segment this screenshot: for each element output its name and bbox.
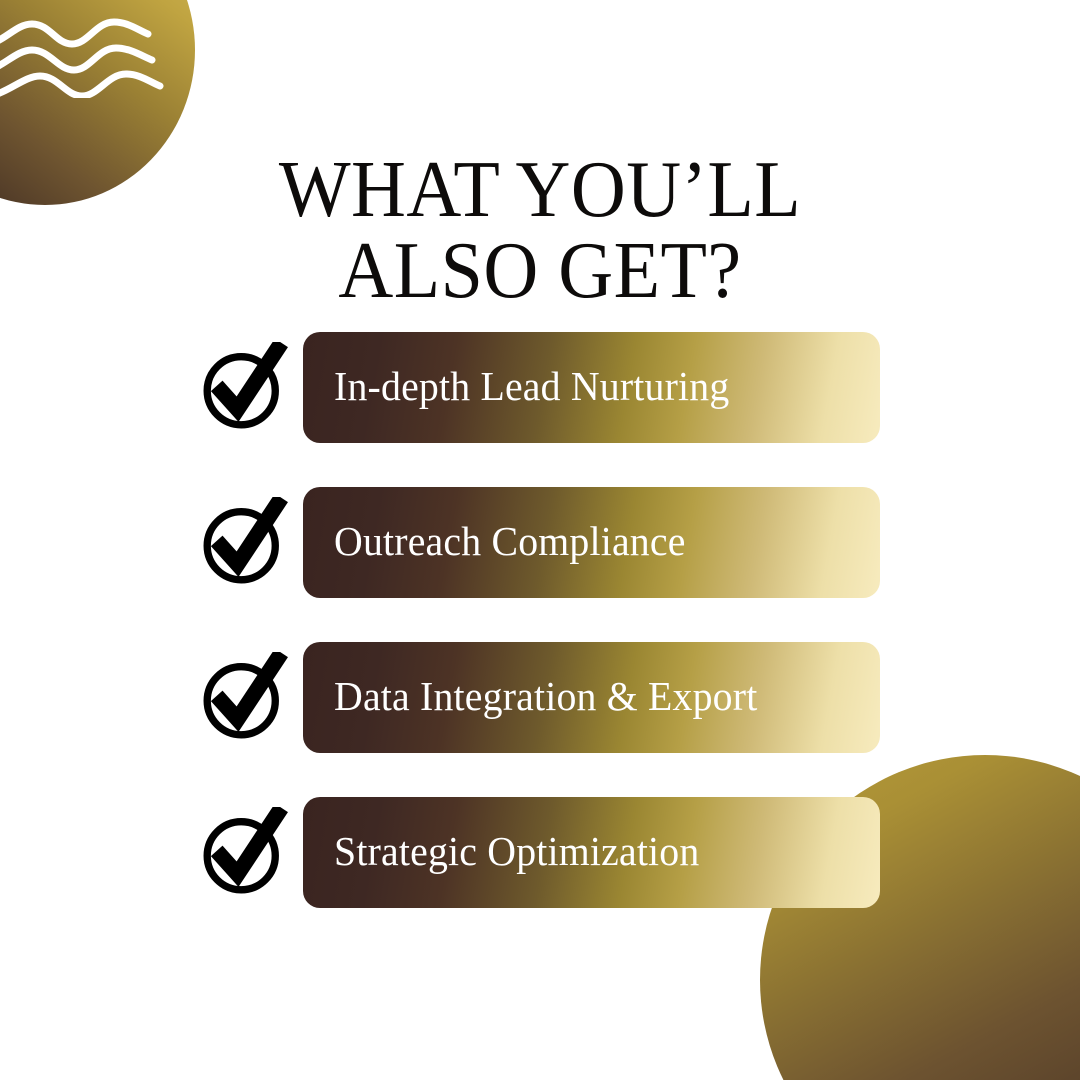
check-circle-icon xyxy=(198,497,290,589)
check-circle-icon xyxy=(198,807,290,899)
feature-pill[interactable]: In-depth Lead Nurturing xyxy=(303,332,880,443)
feature-pill[interactable]: Outreach Compliance xyxy=(303,487,880,598)
list-item: Strategic Optimization xyxy=(0,797,1080,908)
list-item: Outreach Compliance xyxy=(0,487,1080,598)
feature-pill[interactable]: Strategic Optimization xyxy=(303,797,880,908)
page-title-line-2: ALSO GET? xyxy=(27,231,1053,313)
poster-canvas: WHAT YOU’LL ALSO GET? In-depth Lead Nurt… xyxy=(0,0,1080,1080)
feature-label: Strategic Optimization xyxy=(303,831,699,874)
check-circle-icon xyxy=(198,652,290,744)
list-item: In-depth Lead Nurturing xyxy=(0,332,1080,443)
feature-pill[interactable]: Data Integration & Export xyxy=(303,642,880,753)
feature-label: Outreach Compliance xyxy=(303,521,686,564)
feature-label: In-depth Lead Nurturing xyxy=(303,366,729,409)
page-title-line-1: WHAT YOU’LL xyxy=(27,150,1053,232)
page-title: WHAT YOU’LL ALSO GET? xyxy=(0,150,1080,313)
list-item: Data Integration & Export xyxy=(0,642,1080,753)
check-circle-icon xyxy=(198,342,290,434)
feature-label: Data Integration & Export xyxy=(303,676,757,719)
feature-list: In-depth Lead Nurturing Outreach Complia… xyxy=(0,332,1080,908)
